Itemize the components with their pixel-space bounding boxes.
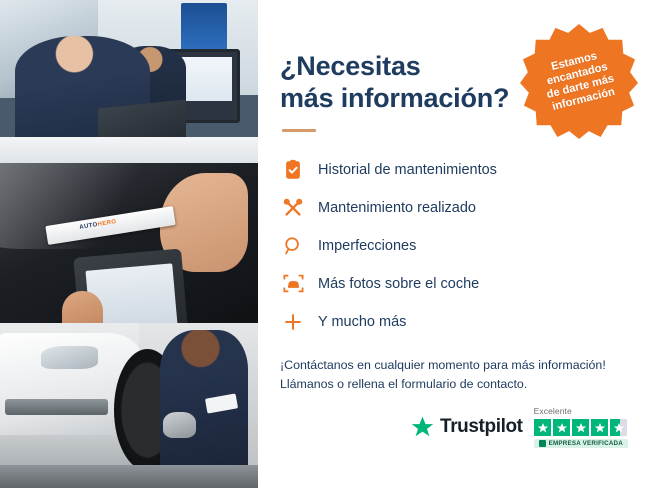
feature-label: Mantenimiento realizado [318,200,476,216]
headlight [41,346,98,369]
feature-label: Historial de mantenimientos [318,162,497,178]
work-glove [163,412,197,438]
plus-icon [280,309,306,335]
car-focus-icon [280,271,306,297]
lift-platform [0,465,258,488]
trustpilot-rating-label: Excelente [534,406,572,416]
photo-call-center [0,0,258,163]
photo-car-inspection: AUTOHERO [0,163,258,323]
feature-label: Y mucho más [318,314,406,330]
list-item: Imperfecciones [280,230,626,262]
title-line-1: ¿Necesitas [280,51,421,81]
contact-line-1: ¡Contáctanos en cualquier momento para m… [280,356,626,375]
trustpilot-rating[interactable]: Trustpilot Excelente [410,406,628,448]
info-promo-card: AUTOHERO ¿Necesitas más información? [0,0,650,488]
star-rating [534,419,627,436]
promo-starburst-badge: Estamos encantados de darte más informac… [520,22,638,140]
title-divider [282,129,316,132]
star-4 [591,419,608,436]
trustpilot-logo: Trustpilot [410,415,523,440]
star-1 [534,419,551,436]
ruler-brand-suffix: HERO [98,219,118,228]
verified-label: EMPRESA VERIFICADA [549,440,623,447]
magnifier-icon [280,233,306,259]
content-panel: ¿Necesitas más información? Historial de… [258,0,650,488]
trustpilot-score-block: Excelente [534,406,628,448]
feature-label: Imperfecciones [318,238,416,254]
trustpilot-wordmark: Trustpilot [440,416,523,438]
star-2 [553,419,570,436]
verified-company-badge: EMPRESA VERIFICADA [534,439,628,448]
list-item: Más fotos sobre el coche [280,268,626,300]
star-3 [572,419,589,436]
contact-line-2: Llámanos o rellena el formulario de cont… [280,375,626,394]
list-item: Mantenimiento realizado [280,192,626,224]
contact-text: ¡Contáctanos en cualquier momento para m… [280,356,626,394]
feature-label: Más fotos sobre el coche [318,276,479,292]
document-check-icon [280,157,306,183]
title-line-2: más información? [280,83,509,113]
inspector-thumb [62,291,103,323]
list-item: Historial de mantenimientos [280,154,626,186]
photo-wheel-check [0,323,258,488]
check-icon [539,440,546,447]
trustpilot-star-icon [410,415,435,440]
front-grille [5,399,108,416]
list-item: Y mucho más [280,306,626,338]
feature-list: Historial de mantenimientos Mantenimient… [280,154,626,338]
wall-poster [181,3,227,52]
headset-icon [507,33,532,58]
photo-column: AUTOHERO [0,0,258,488]
tools-icon [280,195,306,221]
ruler-brand-prefix: AUTO [79,222,98,231]
desk-surface [0,137,258,163]
star-5-half [610,419,627,436]
